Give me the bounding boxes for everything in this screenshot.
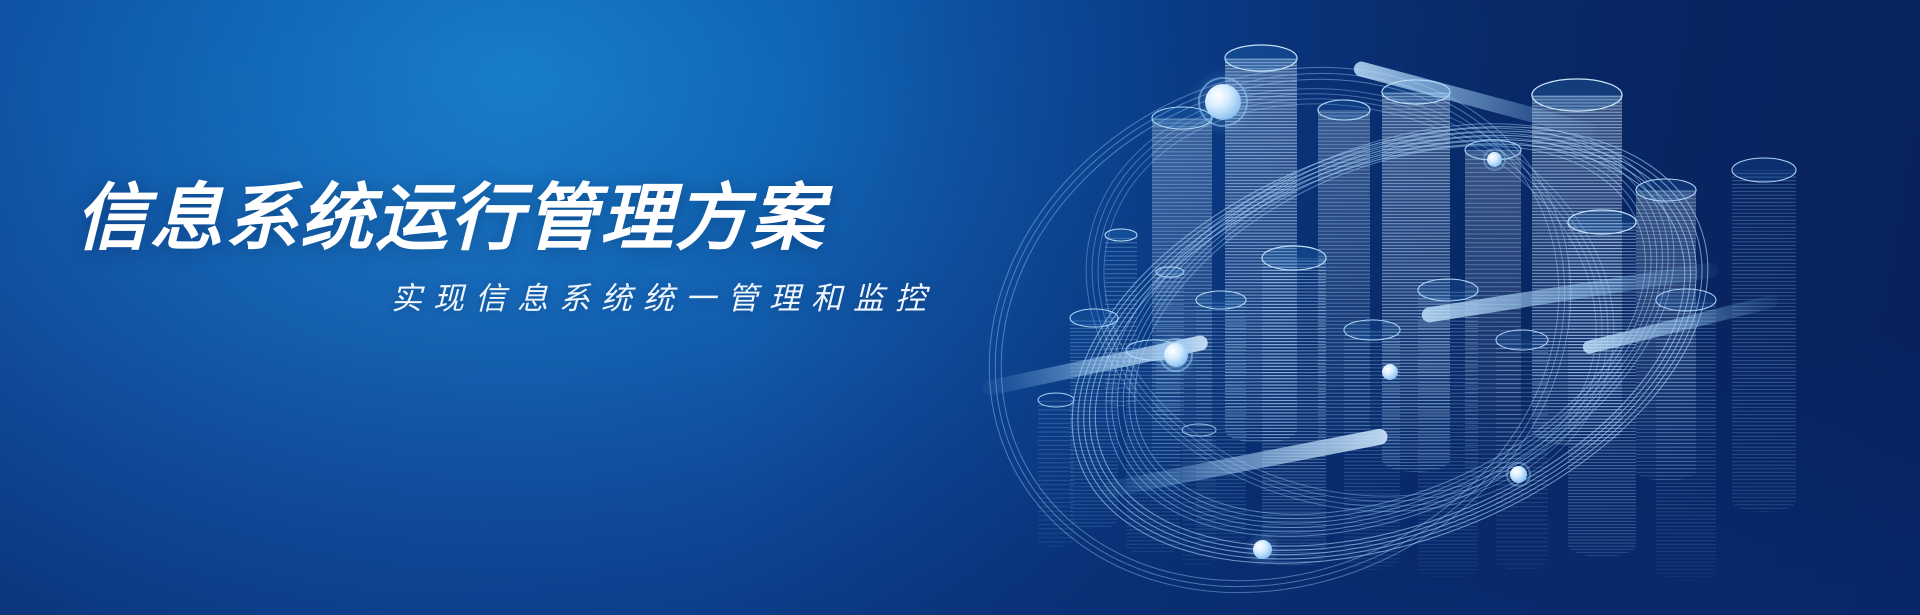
- tower-front-6: [1418, 279, 1478, 579]
- page-subtitle: 实现信息系统统一管理和监控: [75, 280, 955, 317]
- glow-dot-small-c: [1382, 364, 1398, 380]
- glow-core: [1253, 540, 1272, 559]
- glow-core: [1487, 152, 1502, 167]
- glow-dot-medium: [1164, 343, 1188, 367]
- hero-banner: 信息系统运行管理方案 实现信息系统统一管理和监控: [0, 0, 1920, 615]
- city-illustration: [920, 0, 1920, 615]
- tower-front-8: [1568, 210, 1636, 557]
- tower-front-7: [1496, 330, 1548, 570]
- glow-dot-large: [1205, 84, 1241, 120]
- glow-dot-small-b: [1510, 466, 1527, 483]
- glow-core: [1164, 343, 1188, 367]
- glow-core: [1382, 364, 1398, 380]
- glow-core: [1510, 466, 1527, 483]
- page-title: 信息系统运行管理方案: [75, 178, 955, 260]
- glow-dot-small-d: [1253, 540, 1272, 559]
- banner-text-block: 信息系统运行管理方案 实现信息系统统一管理和监控: [75, 178, 955, 317]
- glow-core: [1205, 84, 1241, 120]
- glow-dot-small-a: [1487, 152, 1502, 167]
- tower-edge-right: [1732, 158, 1796, 512]
- tower-front-4: [1262, 246, 1326, 567]
